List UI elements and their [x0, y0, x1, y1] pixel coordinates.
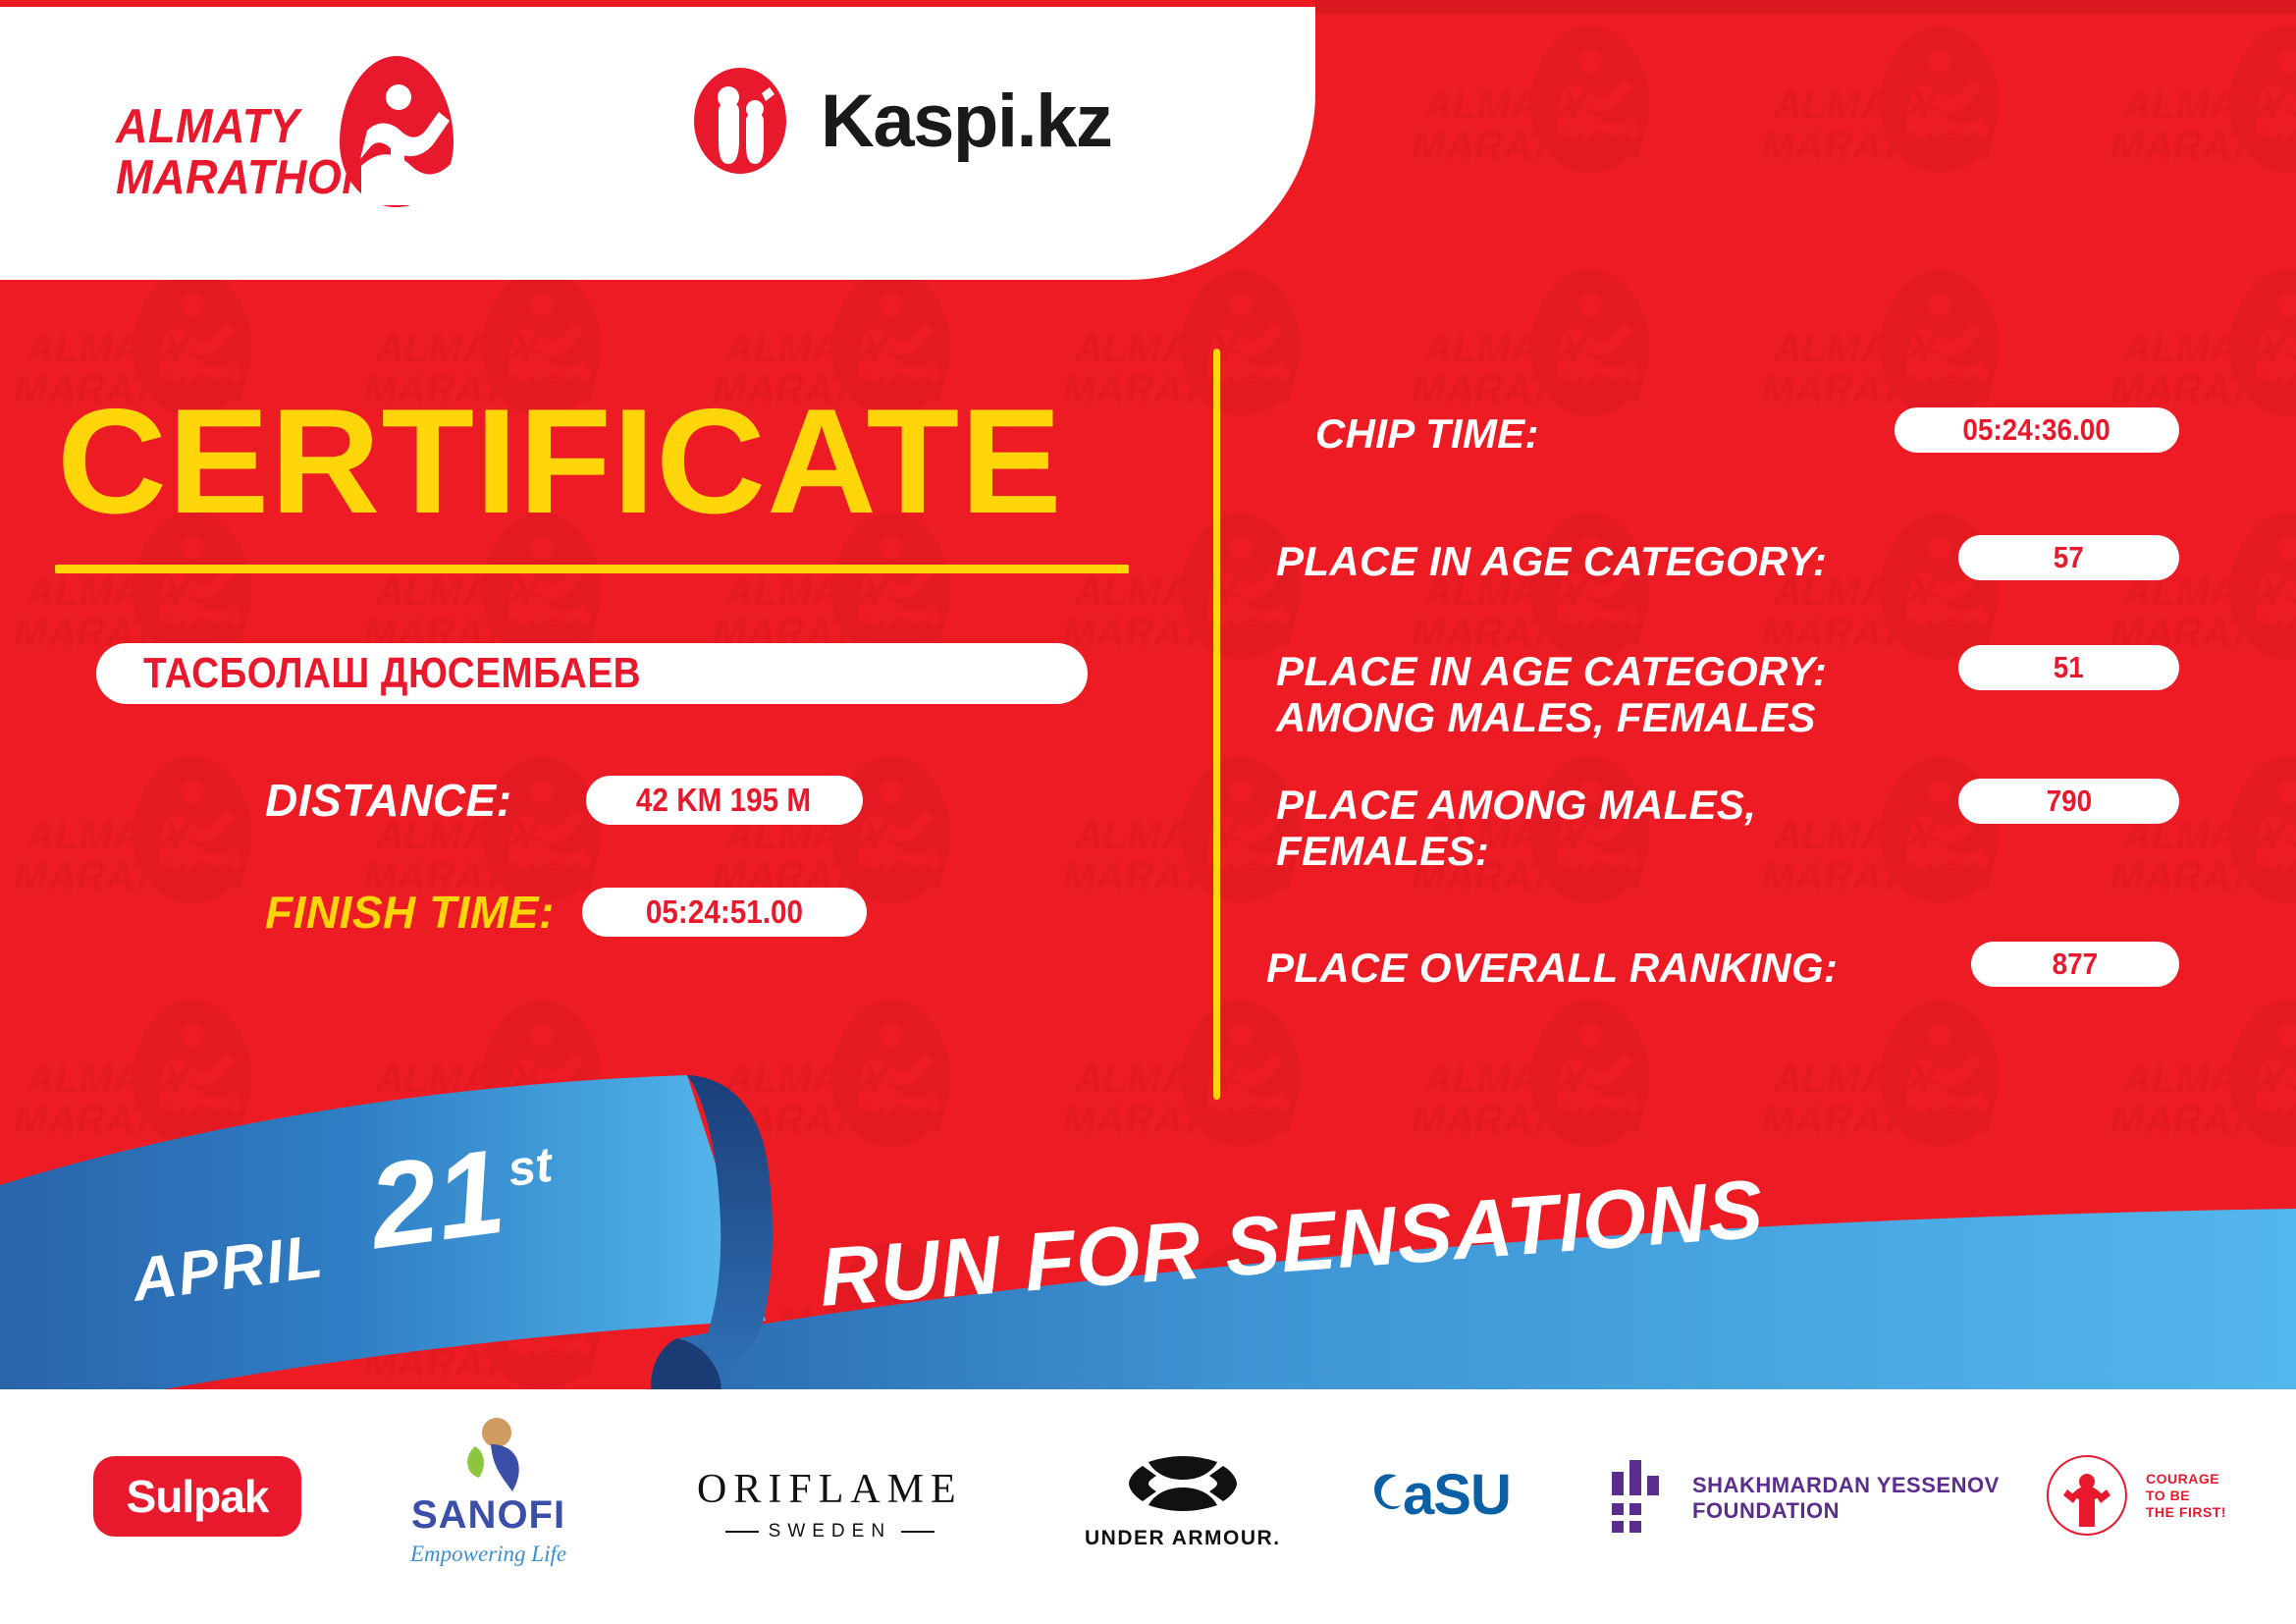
corporate-fund-icon: [2042, 1450, 2132, 1541]
ribbon-day: 21: [363, 1137, 509, 1262]
right-stats-column: CHIP TIME: 05:24:36.00 PLACE IN AGE CATE…: [1266, 285, 2258, 1100]
finish-time-row: FINISH TIME: 05:24:51.00: [265, 886, 867, 939]
oriflame-rule-left: [725, 1531, 759, 1533]
yessenov-bars-icon: [1610, 1458, 1671, 1539]
distance-label: DISTANCE:: [265, 774, 512, 827]
asu-wordmark: aSU: [1403, 1462, 1511, 1528]
participant-name-pill: ТАСБОЛАШ ДЮСЕМБАЕВ: [96, 643, 1088, 704]
oriflame-sub: SWEDEN: [725, 1521, 934, 1543]
participant-name: ТАСБОЛАШ ДЮСЕМБАЕВ: [143, 649, 641, 698]
corporate-fund-line2: TO BE: [2146, 1488, 2226, 1504]
distance-value-pill: 42 KM 195 M: [586, 776, 863, 825]
oriflame-tagline: SWEDEN: [769, 1521, 891, 1543]
almaty-marathon-wordmark: ALMATY MARATHON: [116, 101, 371, 203]
place-overall-value: 877: [2053, 947, 2099, 982]
oriflame-wordmark: ORIFLAME: [697, 1466, 963, 1513]
yessenov-text-block: SHAKHMARDAN YESSENOV FOUNDATION: [1692, 1473, 2000, 1524]
sanofi-mark-icon: [436, 1417, 542, 1493]
blue-ribbon-banner: APRIL 21 st RUN FOR SENSATIONS: [0, 1075, 2296, 1429]
distance-row: DISTANCE: 42 KM 195 M: [265, 774, 863, 827]
left-column: CERTIFICATE ТАСБОЛАШ ДЮСЕМБАЕВ DISTANCE:…: [0, 285, 1207, 1100]
kaspi-people-icon: [687, 66, 793, 176]
sponsor-sulpak: Sulpak: [93, 1456, 301, 1537]
kaspi-wordmark: Kaspi.kz: [821, 79, 1111, 164]
chip-time-value-pill: 05:24:36.00: [1895, 407, 2179, 453]
place-among-gender-value: 790: [2046, 784, 2092, 819]
sanofi-wordmark: SANOFI: [411, 1493, 565, 1538]
title-underline: [55, 565, 1129, 573]
corporate-fund-line3: THE FIRST!: [2146, 1504, 2226, 1521]
sponsor-corporate-fund: COURAGE TO BE THE FIRST!: [2042, 1450, 2226, 1541]
place-overall-value-pill: 877: [1971, 942, 2179, 987]
sponsor-under-armour: UNDER ARMOUR.: [1085, 1446, 1281, 1550]
under-armour-icon: [1123, 1446, 1243, 1521]
asu-lockup: aSU: [1369, 1462, 1511, 1528]
header-top-red-line: [0, 0, 1315, 7]
sponsor-asu: aSU: [1369, 1462, 1511, 1528]
sanofi-tagline: Empowering Life: [410, 1542, 566, 1567]
sulpak-badge: Sulpak: [93, 1456, 301, 1537]
corporate-fund-text-block: COURAGE TO BE THE FIRST!: [2146, 1471, 2226, 1521]
sulpak-wordmark: Sulpak: [127, 1470, 269, 1523]
chip-time-label: CHIP TIME:: [1315, 410, 1539, 457]
finish-time-value: 05:24:51.00: [646, 893, 803, 931]
yessenov-line2: FOUNDATION: [1692, 1498, 2000, 1524]
place-age-category-gender-label: PLACE IN AGE CATEGORY: AMONG MALES, FEMA…: [1276, 648, 1827, 740]
ribbon-ordinal: st: [505, 1136, 556, 1198]
place-age-category-value: 57: [2054, 540, 2084, 575]
place-among-gender-value-pill: 790: [1958, 779, 2179, 824]
vertical-yellow-divider: [1213, 349, 1220, 1100]
oriflame-rule-right: [901, 1531, 934, 1533]
place-age-category-label: PLACE IN AGE CATEGORY:: [1276, 538, 1827, 584]
kaspi-logo: Kaspi.kz: [687, 67, 1111, 175]
finish-time-label: FINISH TIME:: [265, 886, 555, 939]
yessenov-line1: SHAKHMARDAN YESSENOV: [1692, 1473, 2000, 1498]
place-age-category-gender-value-pill: 51: [1958, 645, 2179, 690]
sponsor-oriflame: ORIFLAME SWEDEN: [697, 1466, 963, 1543]
under-armour-wordmark: UNDER ARMOUR.: [1085, 1527, 1281, 1550]
chip-time-value: 05:24:36.00: [1963, 412, 2110, 448]
corporate-fund-line1: COURAGE: [2146, 1471, 2226, 1488]
place-age-category-value-pill: 57: [1958, 535, 2179, 580]
almaty-marathon-logo: ALMATY MARATHON: [116, 54, 440, 226]
asu-swirl-icon: [1369, 1466, 1403, 1525]
sponsor-strip: Sulpak SANOFI Empowering Life ORIFLAME S…: [0, 1389, 2296, 1624]
distance-value: 42 KM 195 M: [636, 782, 811, 819]
finish-time-value-pill: 05:24:51.00: [582, 888, 867, 937]
place-among-gender-label: PLACE AMONG MALES, FEMALES:: [1276, 782, 1756, 874]
sponsor-yessenov-foundation: SHAKHMARDAN YESSENOV FOUNDATION: [1610, 1458, 2000, 1539]
almaty-marathon-line2: MARATHON: [116, 152, 350, 203]
place-age-category-gender-value: 51: [2054, 650, 2084, 685]
certificate-root: ALMATY MARATHON ALMATY MARATHON: [0, 0, 2296, 1624]
almaty-marathon-line1: ALMATY: [116, 101, 350, 152]
place-overall-label: PLACE OVERALL RANKING:: [1266, 945, 1838, 991]
sponsor-sanofi: SANOFI Empowering Life: [410, 1417, 566, 1567]
page-title: CERTIFICATE: [57, 388, 1063, 535]
runner-drop-icon: [334, 54, 459, 211]
ribbon-month: APRIL: [129, 1221, 329, 1316]
